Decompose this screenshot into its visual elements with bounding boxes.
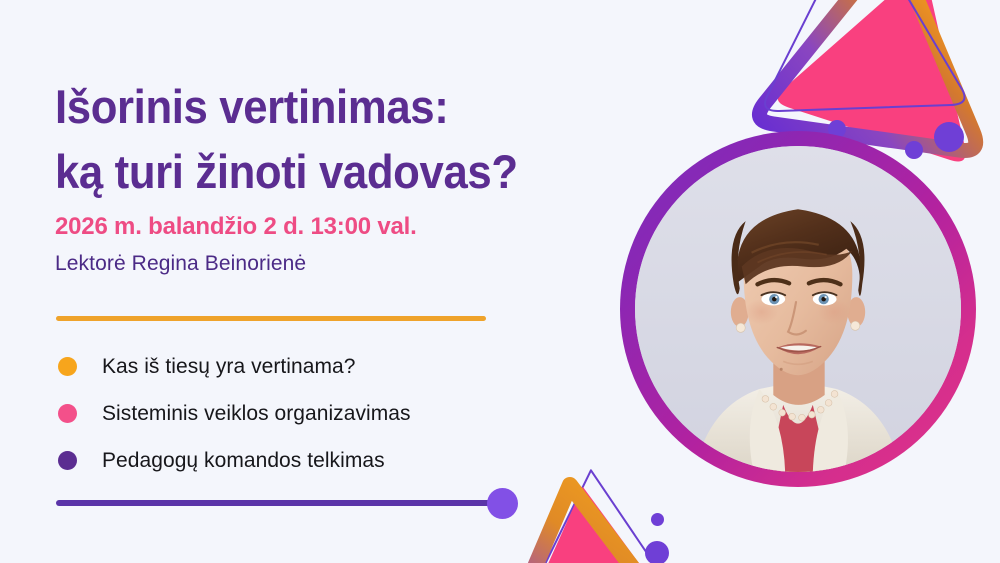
list-item-label: Sisteminis veiklos organizavimas: [102, 402, 411, 426]
event-date: 2026 m. balandžio 2 d. 13:00 val.: [55, 213, 417, 241]
bullet-dot-icon: [58, 451, 77, 470]
divider-purple: [56, 500, 494, 506]
list-item-label: Kas iš tiesų yra vertinama?: [102, 355, 355, 379]
list-item: Pedagogų komandos telkimas: [55, 437, 595, 484]
violet-dot-medium-top: [905, 141, 923, 159]
thin-purple-outline-triangle-top: [759, 0, 965, 111]
topics-list: Kas iš tiesų yra vertinama? Sisteminis v…: [55, 343, 595, 484]
page-title: Išorinis vertinimas: ką turi žinoti vado…: [55, 75, 576, 205]
list-item: Kas iš tiesų yra vertinama?: [55, 343, 595, 390]
list-item: Sisteminis veiklos organizavimas: [55, 390, 595, 437]
divider-purple-cap-icon: [487, 488, 518, 519]
bullet-dot-icon: [58, 357, 77, 376]
gradient-outline-triangle-top: [758, 0, 1000, 152]
bullet-dot-icon: [58, 404, 77, 423]
lecturer-portrait: [635, 146, 961, 472]
list-item-label: Pedagogų komandos telkimas: [102, 449, 385, 473]
violet-dot-large-top: [934, 122, 964, 152]
poster-canvas: Išorinis vertinimas: ką turi žinoti vado…: [0, 0, 1000, 563]
violet-dot-medium-bottom: [645, 541, 669, 563]
poster-content: Išorinis vertinimas: ką turi žinoti vado…: [0, 0, 620, 563]
divider-orange: [56, 316, 486, 321]
lecturer-portrait-ring: [620, 131, 976, 487]
event-lecturer: Lektorė Regina Beinorienė: [55, 252, 306, 276]
violet-dot-small-bottom: [651, 513, 664, 526]
